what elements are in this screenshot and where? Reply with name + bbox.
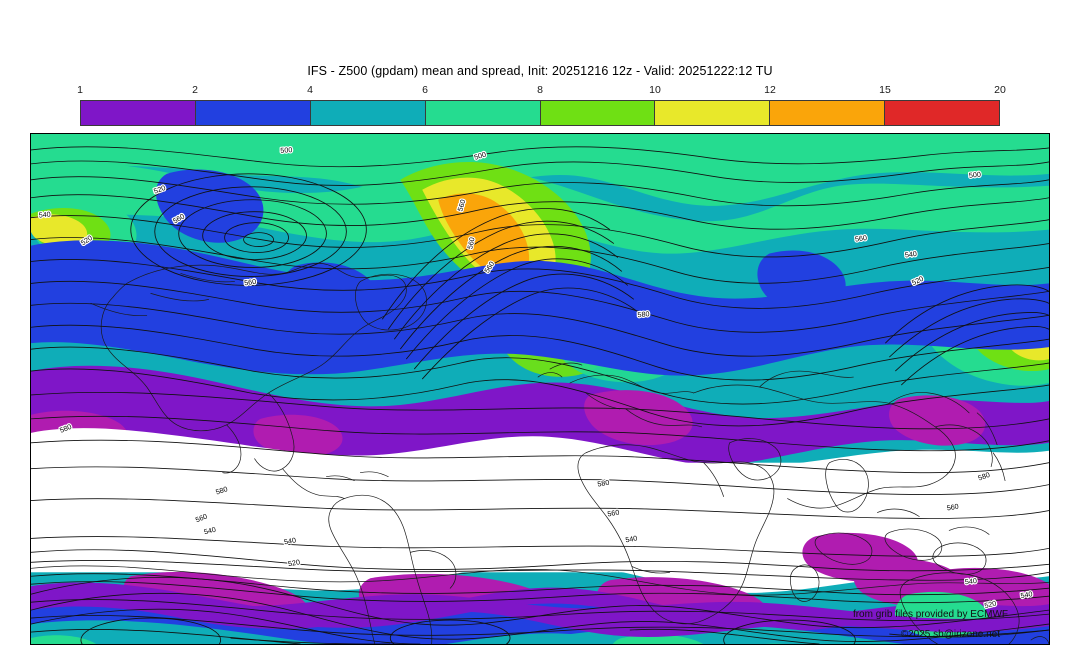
attribution-source: from grib files provided by ECMWF bbox=[853, 609, 1008, 620]
colorbar-tick-labels: 1 2 4 6 8 10 12 15 20 bbox=[80, 84, 1000, 98]
world-spread-map[interactable]: 500 500 500 520 540 520 560 560 560 560 … bbox=[30, 133, 1050, 645]
page-title: IFS - Z500 (gpdam) mean and spread, Init… bbox=[0, 64, 1080, 78]
colorbar-swatches bbox=[80, 100, 1000, 126]
colorbar-swatch-6-8 bbox=[425, 101, 540, 125]
attribution-copyright: ©2025 sb@irizone.net bbox=[901, 629, 1000, 640]
colorbar-tick-5: 10 bbox=[649, 84, 661, 96]
colorbar-swatch-8-10 bbox=[540, 101, 655, 125]
contour-label-500: 500 bbox=[280, 146, 293, 155]
colorbar-tick-6: 12 bbox=[764, 84, 776, 96]
colorbar-tick-1: 2 bbox=[192, 84, 198, 96]
contour-label-500c: 500 bbox=[969, 171, 982, 180]
colorbar-tick-2: 4 bbox=[307, 84, 313, 96]
colorbar-tick-8: 20 bbox=[994, 84, 1006, 96]
contour-label-580: 580 bbox=[637, 310, 650, 319]
colorbar-swatch-4-6 bbox=[310, 101, 425, 125]
colorbar-swatch-2-4 bbox=[195, 101, 310, 125]
colorbar: 1 2 4 6 8 10 12 15 20 bbox=[80, 84, 1000, 128]
contour-label-540: 540 bbox=[38, 210, 51, 219]
colorbar-tick-0: 1 bbox=[77, 84, 83, 96]
contour-label-540f: 540 bbox=[965, 577, 978, 586]
colorbar-tick-3: 6 bbox=[422, 84, 428, 96]
colorbar-tick-4: 8 bbox=[537, 84, 543, 96]
colorbar-swatch-12-15 bbox=[769, 101, 884, 125]
colorbar-tick-7: 15 bbox=[879, 84, 891, 96]
contour-label-540b: 540 bbox=[904, 250, 917, 260]
colorbar-swatch-10-12 bbox=[654, 101, 769, 125]
contour-label-560d: 560 bbox=[244, 278, 257, 288]
colorbar-swatch-15-20 bbox=[884, 101, 999, 125]
contour-label-560f: 560 bbox=[855, 234, 868, 244]
colorbar-swatch-1-2 bbox=[81, 101, 195, 125]
